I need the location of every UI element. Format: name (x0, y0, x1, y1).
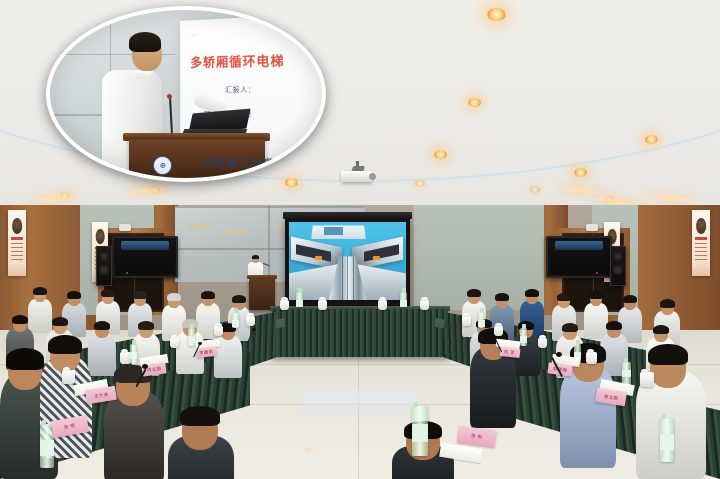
bottle-label (232, 320, 239, 327)
wall-monitor-left[interactable] (112, 236, 178, 278)
speaker-inset-oval: ··· 多轿厢循环电梯 汇报人： 河南理工大学 · ⊕ 河南理工大学 (46, 6, 326, 182)
attendee-hair (12, 315, 28, 324)
monitor-led-icon (596, 272, 598, 274)
monitor-screen (550, 240, 608, 274)
monitor-led-icon (126, 272, 128, 274)
slide-rail-line (353, 256, 354, 300)
name-card-text: 李建军 (199, 349, 214, 356)
attendee-hair (101, 289, 115, 297)
water-bottle (660, 418, 674, 462)
speaker-driver (100, 252, 109, 261)
microphone-head-icon (142, 364, 148, 369)
glass-mullion (268, 206, 270, 282)
bottle-label (622, 370, 631, 377)
monitor-reflection (555, 241, 604, 250)
inset-speaker-hair (129, 32, 161, 52)
bottle-label (412, 424, 428, 442)
bottle-label (660, 434, 674, 450)
attendee-hair (660, 299, 675, 308)
attendee-hair (133, 291, 147, 299)
tea-cup (318, 300, 327, 310)
wall-monitor-right[interactable] (546, 236, 612, 278)
slide-marker (315, 256, 322, 260)
attendee-hair (201, 291, 215, 299)
scroll-text-lines (11, 243, 23, 263)
glass-mullion (175, 206, 365, 208)
ceiling-downlight (487, 8, 506, 21)
scroll-portrait (696, 218, 706, 234)
attendee-hair (232, 295, 246, 303)
attendee-torso (28, 299, 52, 333)
slide-title: 多轿厢循环电梯 (190, 50, 284, 71)
inset-microphone-head-icon (167, 94, 172, 99)
name-card-text: 陈立国 (147, 366, 162, 374)
slide-rail-line (347, 256, 348, 300)
speaker-box-left (96, 246, 112, 286)
tea-cup (538, 338, 547, 348)
ceiling-downlight (468, 98, 481, 107)
bottle-label (188, 336, 195, 343)
name-card-text: 张 明 (64, 423, 76, 431)
attendee-hair (467, 289, 481, 297)
podium-top (247, 275, 277, 279)
name-card-text: 陈立国 (604, 393, 619, 401)
attendee-hair (67, 291, 81, 299)
tea-cup (214, 326, 223, 336)
ceiling-downlight (415, 180, 425, 187)
attendee-hair (48, 335, 82, 354)
scroll-title-bar (695, 237, 707, 240)
scroll-text-lines (695, 243, 707, 263)
attendee-hair (33, 287, 47, 295)
slide-rail-line (342, 256, 343, 300)
tea-cup (462, 316, 471, 326)
tea-cup (280, 300, 289, 310)
ceiling-downlight (645, 135, 658, 144)
microphone-head-icon (556, 352, 562, 357)
scroll-footer (692, 265, 710, 276)
floor-tile-line (358, 360, 359, 479)
slide-marker (373, 256, 380, 260)
glass-accent-bar (187, 224, 213, 227)
microphone-head-icon (498, 336, 502, 339)
security-camera-icon (586, 224, 598, 231)
photo-canvas: 李建军 陈立国 王大海 张 明 刘 军 赵伟强 陈立国 张 明 (0, 0, 720, 479)
ceiling-downlight (285, 178, 298, 187)
attendee-hair (180, 406, 220, 426)
security-camera-icon (119, 224, 131, 231)
attendee-torso (584, 303, 608, 339)
tea-cup (378, 300, 387, 310)
attendee-hair (525, 289, 539, 297)
water-bottle (188, 328, 195, 346)
ceiling-downlight (434, 150, 447, 159)
inset-podium-sign-text: 河南理工大学 (202, 155, 274, 171)
water-bottle (520, 328, 527, 346)
water-bottle (232, 312, 239, 328)
tea-cup (494, 326, 503, 336)
attendee-hair (562, 323, 578, 332)
speaker-driver (613, 265, 623, 275)
water-bottle (478, 312, 485, 328)
bottle-label (520, 336, 527, 343)
attendee-hair (495, 293, 509, 301)
scroll-footer (8, 265, 26, 276)
tea-cup (420, 300, 429, 310)
attendee-hair (589, 291, 603, 299)
water-bottle (400, 292, 407, 307)
monitor-reflection (121, 241, 170, 250)
presenter-hair (252, 255, 259, 259)
bottle-label (400, 300, 407, 307)
monitor-screen (116, 240, 174, 274)
attendee-hair (653, 325, 669, 334)
scroll-title-bar (11, 237, 23, 240)
floor-light-reflection (305, 448, 312, 452)
bottle-label (296, 300, 303, 307)
floor-screen-reflection (300, 392, 418, 416)
name-card: 刘 军 (500, 347, 521, 358)
attendee-hair (167, 293, 181, 301)
attendee-hair (138, 321, 154, 330)
water-bottle (130, 344, 137, 364)
tea-cup (62, 370, 75, 384)
attendee-hair (6, 348, 44, 370)
tea-cup (586, 352, 597, 364)
ceiling-downlight (574, 168, 587, 177)
speaker-box-right (610, 246, 626, 286)
bottle-label (40, 440, 54, 456)
inset-university-logo-icon: ⊕ (153, 156, 172, 175)
ceiling-projector (341, 171, 372, 182)
water-bottle (412, 406, 428, 456)
attendee-torso (88, 334, 116, 376)
attendee-torso (470, 348, 516, 428)
projection-screen (289, 222, 406, 300)
slide-corner-mark: · (283, 139, 285, 146)
wall-scroll-1 (8, 210, 26, 276)
projector-lens-icon (369, 173, 376, 180)
attendee-hair (648, 344, 688, 365)
speaker-driver (99, 265, 109, 275)
tea-cup (640, 372, 654, 387)
microphone-head-icon (252, 328, 256, 331)
speaker-driver (614, 252, 623, 261)
attendee-hair (606, 321, 622, 330)
attendee-hair (557, 293, 571, 301)
slide-presenter-label: 汇报人： (225, 84, 256, 94)
bottle-label (130, 352, 137, 359)
tea-cup (246, 316, 255, 326)
name-card-text: 刘 军 (504, 349, 516, 356)
name-card-text: 王大海 (94, 391, 109, 399)
logo-glyph: ⊕ (160, 161, 167, 170)
tea-cup (170, 338, 179, 348)
attendee-hair (52, 317, 68, 326)
water-bottle (296, 292, 303, 307)
attendee-hair (94, 321, 110, 330)
scroll-portrait (96, 229, 105, 243)
glass-accent-bar (223, 230, 247, 233)
scroll-portrait (12, 218, 22, 234)
attendee-hair (623, 295, 637, 303)
slide-window-block (324, 227, 343, 235)
microphone-head-icon (198, 342, 202, 345)
slide-top-note: ··· (189, 32, 197, 39)
wall-scroll-4 (692, 210, 710, 276)
table-skirt-back (272, 309, 448, 357)
bottle-label (478, 320, 485, 327)
name-card-text: 张 明 (471, 433, 483, 440)
ceiling-downlight (530, 186, 540, 193)
